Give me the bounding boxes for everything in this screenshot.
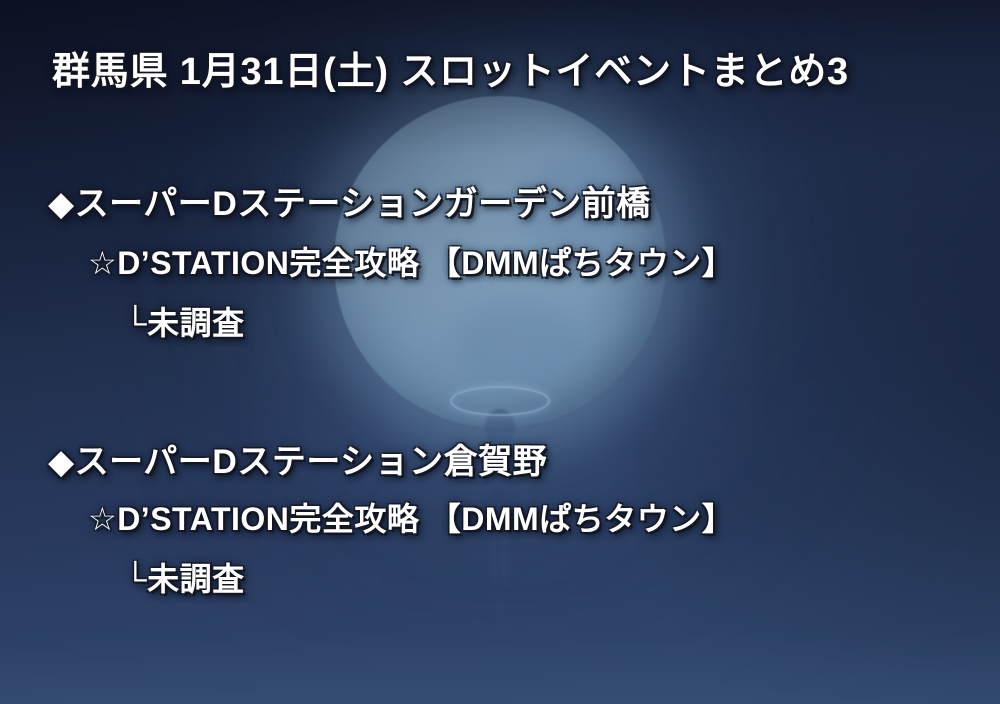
slot-event-poster: 群馬県 1月31日(土) スロットイベントまとめ3 ◆スーパーDステーションガー… [0, 0, 1000, 704]
store-detail-link-1: ☆D’STATION完全攻略 【DMMぱちタウン】 [88, 238, 734, 284]
store-detail-link-2: ☆D’STATION完全攻略 【DMMぱちタウン】 [88, 494, 734, 540]
store-name-2: ◆スーパーDステーション倉賀野 [48, 434, 547, 483]
poster-text-content: 群馬県 1月31日(土) スロットイベントまとめ3 ◆スーパーDステーションガー… [0, 0, 1000, 704]
page-title: 群馬県 1月31日(土) スロットイベントまとめ3 [52, 40, 849, 95]
store-status-1: └未調査 [124, 298, 245, 344]
store-name-1: ◆スーパーDステーションガーデン前橋 [48, 176, 651, 225]
store-status-2: └未調査 [124, 554, 245, 600]
